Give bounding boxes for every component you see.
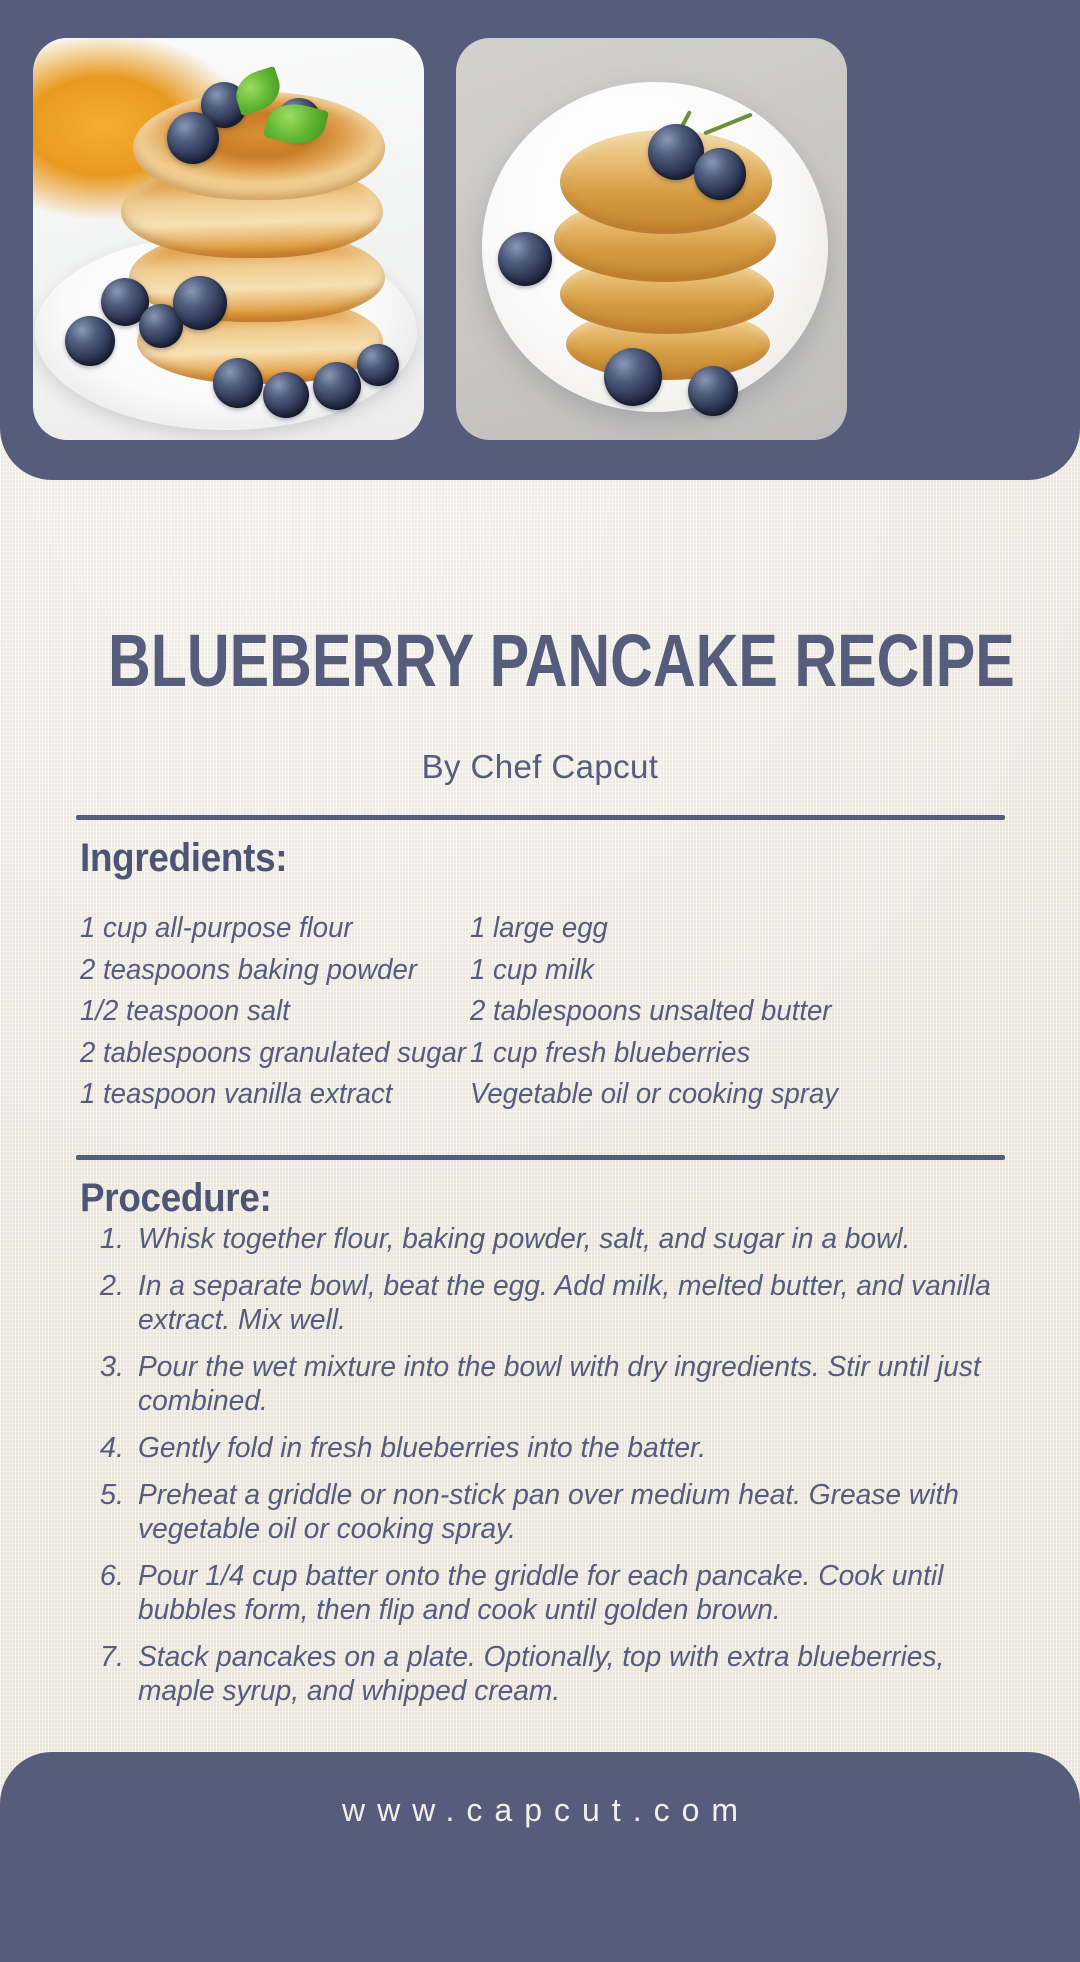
list-item: 7. Stack pancakes on a plate. Optionally… bbox=[82, 1640, 1022, 1708]
divider-above-ingredients bbox=[76, 815, 1005, 820]
pancake-stack-on-plate-photo bbox=[456, 38, 847, 440]
author-subtitle: By Chef Capcut bbox=[0, 748, 1080, 786]
list-item: Vegetable oil or cooking spray bbox=[470, 1074, 917, 1116]
step-number: 2. bbox=[82, 1269, 138, 1303]
step-number: 4. bbox=[82, 1431, 138, 1465]
step-text: Stack pancakes on a plate. Optionally, t… bbox=[138, 1640, 995, 1708]
step-number: 6. bbox=[82, 1559, 138, 1593]
list-item: 1 large egg bbox=[470, 908, 917, 950]
list-item: 4. Gently fold in fresh blueberries into… bbox=[82, 1431, 1022, 1465]
step-text: In a separate bowl, beat the egg. Add mi… bbox=[138, 1269, 995, 1337]
footer-bar: www.capcut.com bbox=[0, 1752, 1080, 1962]
divider-above-procedure bbox=[76, 1155, 1005, 1160]
list-item: 1 cup milk bbox=[470, 950, 917, 992]
list-item: 1 teaspoon vanilla extract bbox=[80, 1074, 441, 1116]
pancake-stack-shape bbox=[117, 90, 389, 380]
ingredients-heading: Ingredients: bbox=[80, 836, 287, 881]
step-text: Pour the wet mixture into the bowl with … bbox=[138, 1350, 995, 1418]
list-item: 2 tablespoons granulated sugar bbox=[80, 1033, 441, 1075]
step-text: Gently fold in fresh blueberries into th… bbox=[138, 1431, 995, 1465]
website-url[interactable]: www.capcut.com bbox=[0, 1792, 1080, 1829]
step-number: 3. bbox=[82, 1350, 138, 1384]
step-number: 7. bbox=[82, 1640, 138, 1674]
list-item: 2 tablespoons unsalted butter bbox=[470, 991, 917, 1033]
procedure-heading: Procedure: bbox=[80, 1176, 272, 1221]
step-text: Preheat a griddle or non-stick pan over … bbox=[138, 1478, 995, 1546]
ingredients-grid: 1 cup all-purpose flour 1 large egg 2 te… bbox=[80, 908, 1010, 1116]
pancake-stack-with-honey-photo bbox=[33, 38, 424, 440]
list-item: 5. Preheat a griddle or non-stick pan ov… bbox=[82, 1478, 1022, 1546]
pancake-stack-shape bbox=[552, 130, 780, 380]
step-text: Pour 1/4 cup batter onto the griddle for… bbox=[138, 1559, 995, 1627]
list-item: 1 cup all-purpose flour bbox=[80, 908, 441, 950]
procedure-list: 1. Whisk together flour, baking powder, … bbox=[82, 1222, 1022, 1721]
step-text: Whisk together flour, baking powder, sal… bbox=[138, 1222, 995, 1256]
step-number: 1. bbox=[82, 1222, 138, 1256]
list-item: 2 teaspoons baking powder bbox=[80, 950, 441, 992]
list-item: 1 cup fresh blueberries bbox=[470, 1033, 917, 1075]
list-item: 6. Pour 1/4 cup batter onto the griddle … bbox=[82, 1559, 1022, 1627]
list-item: 3. Pour the wet mixture into the bowl wi… bbox=[82, 1350, 1022, 1418]
page-title: BLUEBERRY PANCAKE RECIPE bbox=[108, 624, 972, 698]
list-item: 1/2 teaspoon salt bbox=[80, 991, 441, 1033]
header-panel bbox=[0, 0, 1080, 480]
list-item: 1. Whisk together flour, baking powder, … bbox=[82, 1222, 1022, 1256]
photo-row bbox=[33, 38, 1047, 440]
list-item: 2. In a separate bowl, beat the egg. Add… bbox=[82, 1269, 1022, 1337]
step-number: 5. bbox=[82, 1478, 138, 1512]
recipe-card: BLUEBERRY PANCAKE RECIPE By Chef Capcut … bbox=[0, 0, 1080, 1920]
